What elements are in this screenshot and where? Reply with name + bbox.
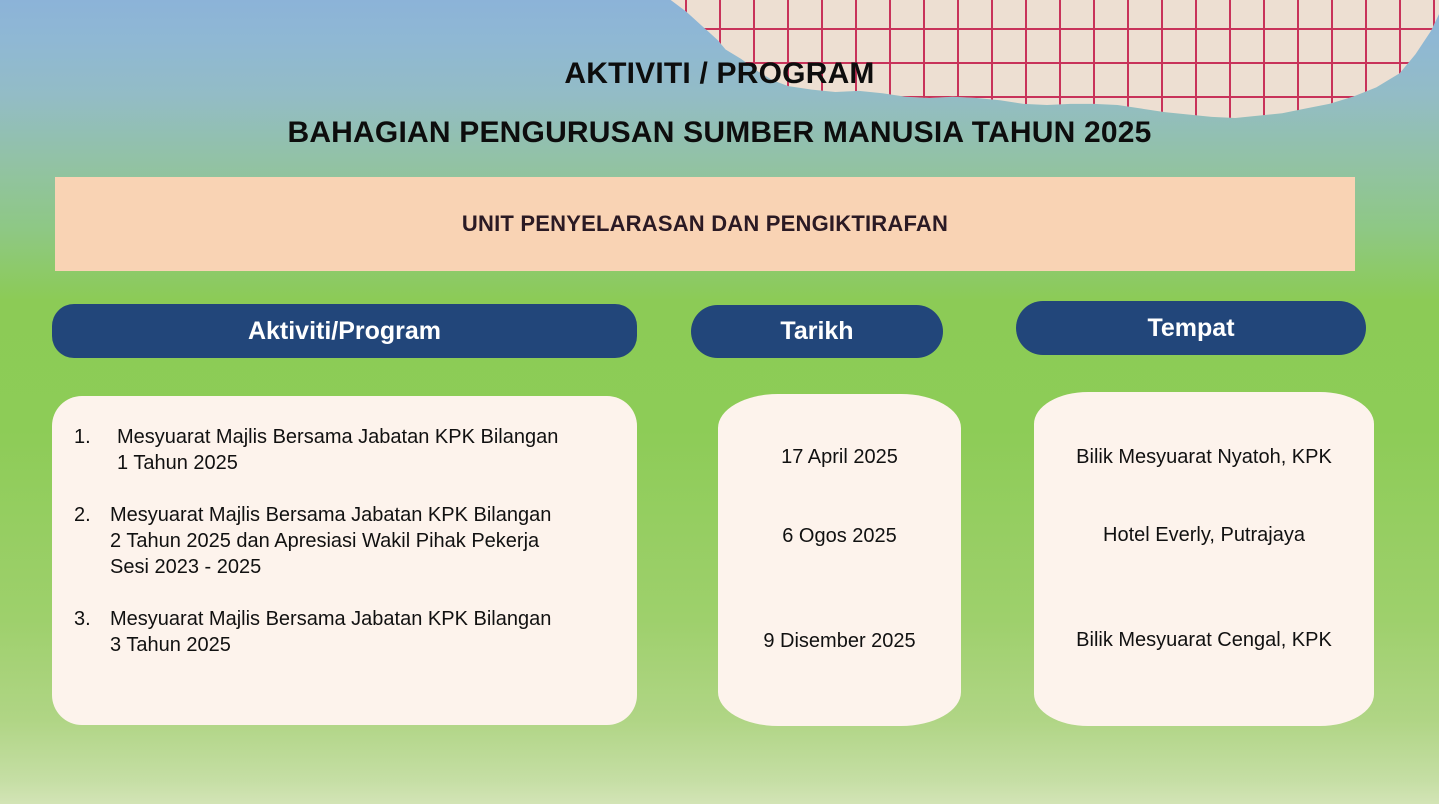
list-item: 2. Mesyuarat Majlis Bersama Jabatan KPK … [74,502,615,580]
activity-text: Mesyuarat Majlis Bersama Jabatan KPK Bil… [110,606,615,658]
activity-text: Mesyuarat Majlis Bersama Jabatan KPK Bil… [110,502,615,580]
column-header-tempat[interactable]: Tempat [1016,301,1366,355]
activity-text: Mesyuarat Majlis Bersama Jabatan KPK Bil… [110,424,615,476]
activities-card: 1. Mesyuarat Majlis Bersama Jabatan KPK … [52,396,637,725]
venue-value: Bilik Mesyuarat Cengal, KPK [1048,627,1360,653]
column-header-aktiviti-label: Aktiviti/Program [248,317,441,346]
list-item: 1. Mesyuarat Majlis Bersama Jabatan KPK … [74,424,615,476]
activity-list: 1. Mesyuarat Majlis Bersama Jabatan KPK … [74,424,615,658]
column-header-tempat-label: Tempat [1147,314,1234,343]
column-header-tarikh[interactable]: Tarikh [691,305,943,358]
activity-number: 3. [74,606,110,632]
column-header-tarikh-label: Tarikh [780,317,853,346]
activity-number: 2. [74,502,110,528]
unit-banner-label: UNIT PENYELARASAN DAN PENGIKTIRAFAN [462,211,948,237]
venue-value: Bilik Mesyuarat Nyatoh, KPK [1048,444,1360,470]
date-value: 9 Disember 2025 [728,628,951,654]
page-title-line-2: BAHAGIAN PENGURUSAN SUMBER MANUSIA TAHUN… [0,116,1439,150]
venues-card: Bilik Mesyuarat Nyatoh, KPK Hotel Everly… [1034,392,1374,726]
slide-canvas: AKTIVITI / PROGRAM BAHAGIAN PENGURUSAN S… [0,0,1439,804]
date-value: 6 Ogos 2025 [728,523,951,549]
dates-card: 17 April 2025 6 Ogos 2025 9 Disember 202… [718,394,961,726]
column-header-aktiviti[interactable]: Aktiviti/Program [52,304,637,358]
activity-number: 1. [74,424,110,450]
unit-banner: UNIT PENYELARASAN DAN PENGIKTIRAFAN [55,177,1355,271]
venue-value: Hotel Everly, Putrajaya [1048,522,1360,548]
list-item: 3. Mesyuarat Majlis Bersama Jabatan KPK … [74,606,615,658]
page-title-line-1: AKTIVITI / PROGRAM [0,57,1439,91]
date-value: 17 April 2025 [728,444,951,470]
